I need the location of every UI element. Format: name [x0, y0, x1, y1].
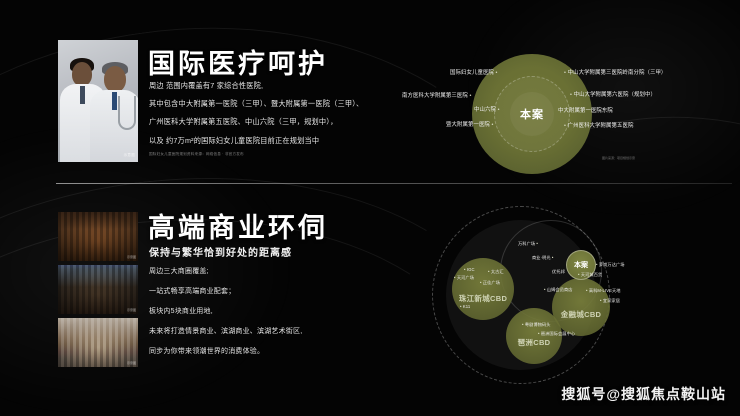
poi-label: 宜家家居 [600, 298, 620, 304]
hospital-label-right: 中山大学附属第三医院岭南分院（三甲） [564, 68, 666, 76]
section2-subtitle: 保持与繁华恰到好处的距离感 [149, 244, 292, 259]
hospital-label-left: 国际妇女儿童医院 [450, 68, 498, 76]
hospital-label-right: 广州医科大学附属第五医院 [564, 121, 633, 129]
poi-label: 琶洲国际会展中心 [538, 331, 575, 337]
section2-line: 未来将打造情景商业、滨湖商业、滨湖艺术街区, [149, 328, 389, 335]
poi-label: 正佳广场 [480, 280, 500, 286]
slide-canvas: 示意图 国际医疗呵护 周边 范围内覆盖有7 家综合性医院, 其中包含中大附属第一… [0, 0, 740, 416]
commercial-photo: 示意图 [58, 318, 138, 367]
sohu-watermark: 搜狐号@搜狐焦点鞍山站 [561, 384, 726, 404]
section-divider [56, 183, 732, 184]
section1-footnote: 国际妇女儿童医院规划资料来源：网络信息 · 非官方发布 [149, 152, 244, 157]
poi-label: 山姆会员商店 [544, 287, 573, 293]
cbd-zone-label: 珠江新城CBD [459, 293, 507, 304]
poi-label: 天河广场 [454, 275, 474, 281]
poi-label: 萝岗万达广场 [596, 262, 625, 268]
poi-label: 万科广场 [518, 241, 538, 247]
hospital-radius-diagram: 本案 国际妇女儿童医院 南方医科大学附属第三医院 中山六院 暨大附属第一医院 中… [452, 48, 740, 180]
section1-title: 国际医疗呵护 [148, 42, 328, 81]
section1-line: 周边 范围内覆盖有7 家综合性医院, [149, 82, 409, 89]
section2-line: 同步为你带来领潮世界的消费体验。 [149, 348, 389, 355]
diagram1-footnote: 图片来源：项目规划示意 [602, 156, 635, 160]
section2-line: 板块内5块商业用地, [149, 308, 389, 315]
photo-watermark: 示意图 [127, 255, 136, 259]
commercial-photo: 示意图 [58, 265, 138, 314]
poi-label: K11 [460, 304, 470, 309]
poi-label: IGC [464, 267, 475, 272]
commercial-photo-stack: 示意图 示意图 示意图 [58, 212, 138, 367]
poi-label: 天河城百货 [578, 272, 602, 278]
photo-watermark: 示意图 [124, 153, 135, 158]
cbd-zone-label: 金融城CBD [561, 309, 602, 320]
photo-watermark: 示意图 [127, 308, 136, 312]
section1-line: 其中包含中大附属第一医院（三甲）、暨大附属第一医院（三甲）、 [149, 100, 409, 107]
diagram1-center: 本案 [510, 92, 554, 136]
poi-label: 粤剧博物码头 [522, 322, 551, 328]
cbd-zone-zhujiang: 珠江新城CBD [452, 258, 514, 320]
doctors-photo: 示意图 [58, 40, 138, 162]
hospital-label-left: 南方医科大学附属第三医院 [402, 91, 471, 99]
section2-body: 周边三大商圈覆盖; 一站式畅享高端商业配套； 板块内5块商业用地, 未来将打造情… [149, 268, 389, 368]
photo-watermark: 示意图 [127, 361, 136, 365]
hospital-label-left: 中山六院 [474, 105, 500, 113]
commercial-photo: 示意图 [58, 212, 138, 261]
section1-body: 周边 范围内覆盖有7 家综合性医院, 其中包含中大附属第一医院（三甲）、暨大附属… [149, 82, 409, 155]
poi-label: 高科M-LIVE天地 [586, 288, 621, 294]
poi-label: 商业·明光 [532, 255, 554, 261]
diagram2-center-label: 本案 [574, 260, 588, 270]
section1-line: 广州医科大学附属第五医院、中山六院（三甲，规划中）， [149, 118, 409, 125]
hospital-label-left: 暨大附属第一医院 [446, 120, 494, 128]
section1-line: 以及 约7万m²的国际妇女儿童医院目前正在规划当中 [149, 137, 409, 144]
section2-title: 高端商业环伺 [148, 206, 328, 245]
commercial-radius-diagram: 珠江新城CBD 金融城CBD 琶洲CBD 本案 万科广场 IGC 天河广场 太古… [400, 198, 680, 388]
diagram1-center-label: 本案 [520, 106, 544, 122]
poi-label: 太古汇 [488, 269, 504, 275]
cbd-zone-label: 琶洲CBD [518, 337, 551, 348]
hospital-label-right: 中大附属第一医院东院 [558, 106, 613, 114]
hospital-label-right: 中山大学附属第六医院（规划中） [570, 90, 656, 98]
poi-label: 优托邦 [552, 269, 565, 275]
section2-line: 周边三大商圈覆盖; [149, 268, 389, 275]
section2-line: 一站式畅享高端商业配套； [149, 288, 389, 295]
